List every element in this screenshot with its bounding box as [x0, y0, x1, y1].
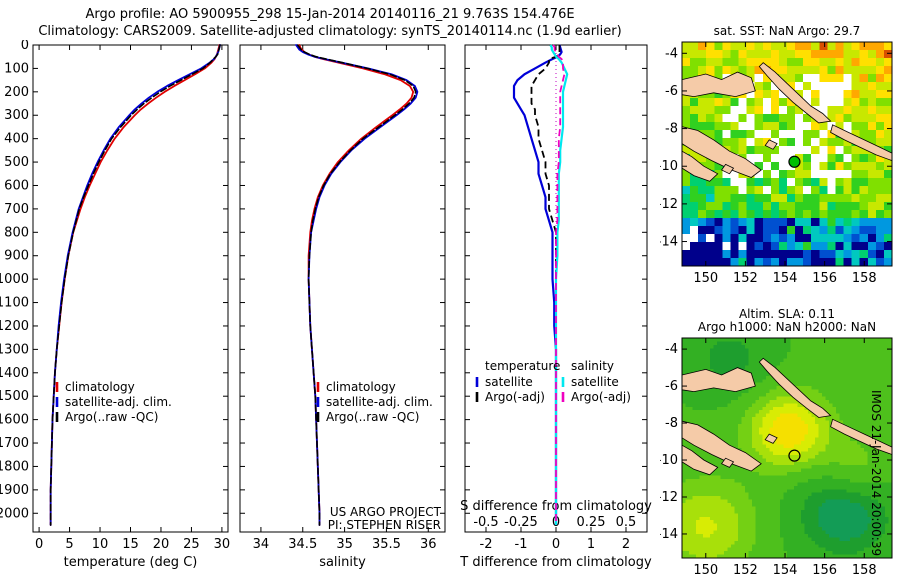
map-title-line-1: Altim. SLA: 0.11	[739, 307, 835, 321]
map-y-tick-label: -12	[660, 490, 678, 505]
y-tick-label: 1100	[0, 296, 29, 311]
title-line-2: Climatology: CARS2009. Satellite-adjuste…	[0, 23, 660, 40]
map-x-tick-label: 156	[812, 563, 837, 578]
map-y-tick-label: -8	[665, 122, 678, 137]
x-tick-label: 25	[183, 537, 200, 552]
x-tick-label-bottom: -2	[480, 537, 493, 552]
map-y-tick-label: -4	[665, 342, 678, 357]
map-x-tick-label: 150	[693, 271, 718, 286]
map-x-tick-label: 158	[852, 563, 877, 578]
y-tick-label: 400	[4, 132, 29, 147]
y-tick-label: 800	[4, 225, 29, 240]
x-axis-label-bottom: T difference from climatology	[459, 555, 652, 570]
legend-group-title: temperature	[485, 359, 560, 373]
legend-label: satellite	[485, 375, 533, 389]
title-line-1: Argo profile: AO 5900955_298 15-Jan-2014…	[0, 6, 660, 23]
legend-label: Argo(..raw -QC)	[326, 410, 419, 424]
y-tick-label: 100	[4, 61, 29, 76]
x-tick-label-top: -0.25	[504, 515, 538, 530]
x-tick-label-bottom: 1	[587, 537, 595, 552]
legend-label: satellite	[571, 375, 619, 389]
map-y-tick-label: -6	[665, 84, 678, 99]
x-tick-label: 34.5	[288, 537, 317, 552]
map-y-tick-label: -10	[660, 159, 678, 174]
map-x-tick-label: 156	[812, 271, 837, 286]
y-tick-label: 1300	[0, 342, 29, 357]
map-y-tick-label: -8	[665, 416, 678, 431]
map-y-tick-label: -6	[665, 379, 678, 394]
temperature-profile-panel[interactable]: 0100200300400500600700800900100011001200…	[0, 40, 240, 580]
x-tick-label-bottom: -1	[515, 537, 528, 552]
map-y-tick-label: -14	[660, 527, 678, 542]
float-position-marker[interactable]	[789, 156, 800, 167]
x-tick-label: 20	[153, 537, 170, 552]
x-tick-label: 15	[122, 537, 139, 552]
map-x-tick-label: 154	[773, 563, 798, 578]
legend-group-title: salinity	[571, 359, 614, 373]
legend-label: Argo(..raw -QC)	[65, 410, 158, 424]
imos-timestamp: IMOS 21-Jan-2014 20:00:39	[869, 390, 883, 550]
x-tick-label: 5	[65, 537, 73, 552]
x-tick-label-top: 0.25	[577, 515, 606, 530]
map-x-tick-label: 158	[852, 271, 877, 286]
y-tick-label: 1900	[0, 483, 29, 498]
x-tick-label: 35	[336, 537, 353, 552]
y-tick-label: 1800	[0, 459, 29, 474]
x-tick-label-top: 0.5	[616, 515, 637, 530]
y-tick-label: 1600	[0, 413, 29, 428]
x-tick-label-bottom: 2	[622, 537, 630, 552]
x-tick-label: 36	[420, 537, 437, 552]
x-tick-label: 0	[35, 537, 43, 552]
y-tick-label: 600	[4, 178, 29, 193]
legend-label: Argo(-adj)	[571, 390, 631, 404]
legend-label: satellite-adj. clim.	[65, 395, 172, 409]
y-tick-label: 200	[4, 85, 29, 100]
x-tick-label-top: -0.5	[473, 515, 498, 530]
y-tick-label: 900	[4, 249, 29, 264]
y-tick-label: 1000	[0, 272, 29, 287]
y-tick-label: 0	[21, 40, 29, 53]
project-credit-line-2: PI: STEPHEN RISER	[328, 518, 441, 532]
map-x-tick-label: 152	[733, 563, 758, 578]
map-x-tick-label: 152	[733, 271, 758, 286]
map-title: sat. SST: NaN Argo: 29.7	[714, 24, 861, 38]
legend-label: climatology	[326, 380, 396, 394]
map-x-tick-label: 150	[693, 563, 718, 578]
y-tick-label: 1500	[0, 389, 29, 404]
y-tick-label: 700	[4, 202, 29, 217]
x-tick-label: 35.5	[372, 537, 401, 552]
map-y-tick-label: -14	[660, 235, 678, 250]
legend-label: climatology	[65, 380, 135, 394]
y-tick-label: 1200	[0, 319, 29, 334]
plot-frame	[240, 45, 445, 532]
map-y-tick-label: -10	[660, 453, 678, 468]
x-tick-label-bottom: 0	[552, 537, 560, 552]
x-tick-label: 30	[214, 537, 231, 552]
legend-label: Argo(-adj)	[485, 390, 545, 404]
y-tick-label: 1700	[0, 436, 29, 451]
y-tick-label: 500	[4, 155, 29, 170]
y-tick-label: 2000	[0, 506, 29, 521]
map-x-tick-label: 154	[773, 271, 798, 286]
salinity-profile-panel[interactable]: 3434.53535.536salinityclimatologysatelli…	[230, 40, 470, 580]
project-credit-line-1: US ARGO PROJECT	[330, 505, 442, 519]
x-axis-label: salinity	[319, 555, 366, 570]
x-tick-label: 34	[253, 537, 270, 552]
x-axis-label: temperature (deg C)	[64, 555, 198, 570]
sla-map-panel[interactable]: Altim. SLA: 0.11Argo h1000: NaN h2000: N…	[660, 286, 900, 580]
map-title-line-2: Argo h1000: NaN h2000: NaN	[698, 320, 876, 334]
y-tick-label: 1400	[0, 366, 29, 381]
page-title: Argo profile: AO 5900955_298 15-Jan-2014…	[0, 6, 660, 40]
y-tick-label: 300	[4, 108, 29, 123]
map-y-tick-label: -12	[660, 197, 678, 212]
map-y-tick-label: -4	[665, 46, 678, 61]
difference-profile-panel[interactable]: -2-1012T difference from climatology-0.5…	[455, 40, 670, 580]
sst-map-panel[interactable]: sat. SST: NaN Argo: 29.7150152154156158-…	[660, 4, 900, 294]
legend-label: satellite-adj. clim.	[326, 395, 433, 409]
x-tick-label: 10	[92, 537, 109, 552]
